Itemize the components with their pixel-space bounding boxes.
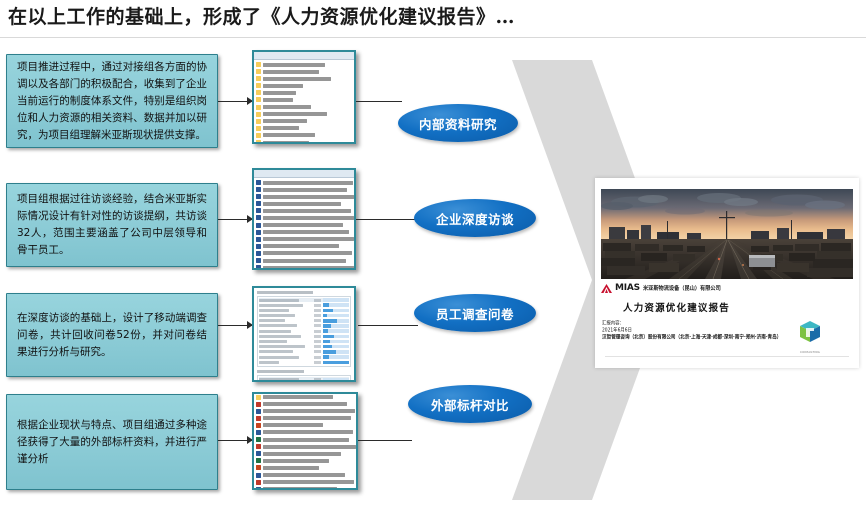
list-item (256, 76, 354, 82)
list-item (256, 132, 354, 138)
list-item (256, 429, 356, 435)
word-file-icon (256, 223, 261, 228)
word-file-icon (256, 265, 261, 270)
list-item (256, 208, 354, 214)
mias-triangle-logo-icon (601, 284, 612, 293)
list-item (256, 258, 354, 264)
document-thumbnail-4[interactable] (252, 392, 358, 490)
word-file-icon (256, 487, 261, 490)
step-label-internal-data-research[interactable]: 内部资料研究 (398, 104, 518, 142)
folder-icon (256, 83, 261, 88)
word-file-icon (256, 473, 261, 478)
oval-label-text-2: 企业深度访谈 (436, 209, 514, 228)
word-file-icon (256, 451, 261, 456)
list-item (256, 180, 354, 186)
word-file-icon (256, 230, 261, 235)
table-row (259, 355, 349, 359)
cube-logo-icon (796, 320, 824, 344)
word-file-icon (256, 237, 261, 242)
word-file-icon (256, 430, 261, 435)
connector-line-4b (358, 440, 412, 441)
step-label-external-benchmark[interactable]: 外部标杆对比 (408, 385, 532, 423)
list-item (256, 104, 354, 110)
table-totals-row (259, 360, 349, 364)
list-item (256, 243, 354, 249)
list-item (256, 215, 354, 221)
pdf-file-icon (256, 416, 261, 421)
logo-caption: CONSULTING (793, 350, 827, 354)
step-description-box-3: 在深度访谈的基础上，设计了移动端调查问卷，共计回收问卷52份，并对问卷结果进行分… (6, 293, 218, 377)
list-item (256, 265, 354, 270)
step-description-box-4: 根据企业现状与特点、项目组通过多种途径获得了大量的外部标杆资料，并进行严谨分析 (6, 394, 218, 490)
list-item (256, 118, 354, 124)
cover-brand-line: MIAS 米亚斯物流设备（昆山）有限公司 (601, 283, 853, 293)
word-file-icon (256, 187, 261, 192)
list-item (256, 394, 356, 400)
list-item (256, 472, 356, 478)
table-row (259, 345, 349, 349)
excel-file-icon (256, 437, 261, 442)
list-item (256, 401, 356, 407)
folder-icon (256, 126, 261, 131)
results-table (257, 375, 351, 382)
step-description-box-1: 项目推进过程中，通过对接组各方面的协调以及各部门的积极配合，收集到了企业当前运行… (6, 54, 218, 148)
mias-company-name: 米亚斯物流设备（昆山）有限公司 (643, 284, 721, 291)
pdf-file-icon (256, 480, 261, 485)
folder-icon (256, 90, 261, 95)
table-row (259, 334, 349, 338)
table-header-row (259, 377, 349, 381)
folder-icon (256, 133, 261, 138)
table-row (259, 303, 349, 307)
word-file-icon (256, 180, 261, 185)
folder-icon (256, 119, 261, 124)
oval-label-text-4: 外部标杆对比 (431, 395, 509, 414)
folder-icon (256, 69, 261, 74)
excel-file-icon (256, 458, 261, 463)
step-description-box-2: 项目组根据过往访谈经验，结合米亚斯实际情况设计有针对性的访谈提纲，共访谈32人，… (6, 183, 218, 267)
powerpoint-file-icon (256, 465, 261, 470)
word-file-icon (256, 194, 261, 199)
list-item (256, 140, 354, 144)
list-item (256, 69, 354, 75)
question-block-1 (254, 288, 354, 382)
list-item (256, 236, 354, 242)
step-label-employee-survey[interactable]: 员工调查问卷 (414, 294, 536, 332)
word-file-icon (256, 201, 261, 206)
table-row (259, 340, 349, 344)
document-thumbnail-1[interactable] (252, 50, 356, 144)
list-item (256, 451, 356, 457)
mias-wordmark: MIAS (615, 283, 640, 293)
list-item (256, 437, 356, 443)
table-row (259, 308, 349, 312)
list-item (256, 465, 356, 471)
table-header-row (259, 298, 349, 302)
folder-icon (256, 395, 261, 400)
list-item (256, 201, 354, 207)
list-item (256, 229, 354, 235)
document-thumbnail-3[interactable] (252, 286, 356, 382)
folder-icon (256, 76, 261, 81)
table-row (259, 324, 349, 328)
list-item (256, 90, 354, 96)
word-file-icon (256, 251, 261, 256)
list-item (256, 194, 354, 200)
table-row (259, 314, 349, 318)
pdf-file-icon (256, 402, 261, 407)
list-item (256, 187, 354, 193)
word-file-icon (256, 215, 261, 220)
word-file-icon (256, 208, 261, 213)
table-row (259, 329, 349, 333)
list-item (256, 250, 354, 256)
table-row (259, 350, 349, 354)
question-title (257, 370, 304, 373)
report-cover-preview[interactable]: MIAS 米亚斯物流设备（昆山）有限公司 人力资源优化建议报告 汇报内容： 20… (595, 178, 859, 368)
word-file-icon (256, 244, 261, 249)
oval-label-text-1: 内部资料研究 (419, 114, 497, 133)
list-item (256, 125, 354, 131)
step-description-text-2: 项目组根据过往访谈经验，结合米亚斯实际情况设计有针对性的访谈提纲，共访谈32人，… (17, 191, 207, 259)
oval-label-text-3: 员工调查问卷 (436, 304, 514, 323)
pdf-file-icon (256, 444, 261, 449)
list-item (256, 62, 354, 68)
step-description-text-3: 在深度访谈的基础上，设计了移动端调查问卷，共计回收问卷52份，并对问卷结果进行分… (17, 310, 207, 361)
folder-icon (256, 97, 261, 102)
consulting-firm-logo: CONSULTING (793, 320, 827, 350)
results-table (257, 296, 351, 367)
title-divider (0, 37, 866, 38)
connector-line-2b (356, 219, 418, 220)
page-title: 在以上工作的基础上，形成了《人力资源优化建议报告》… (8, 2, 648, 32)
list-item (256, 422, 356, 428)
word-file-icon (256, 258, 261, 263)
question-title (257, 291, 313, 294)
folder-icon (256, 105, 261, 110)
list-item (256, 444, 356, 450)
list-item (256, 458, 356, 464)
document-thumbnail-2[interactable] (252, 168, 356, 270)
railway-yard-photo (601, 189, 853, 279)
powerpoint-file-icon (256, 423, 261, 428)
list-item (256, 486, 356, 490)
connector-line-3b (358, 325, 418, 326)
list-item (256, 83, 354, 89)
list-item (256, 97, 354, 103)
folder-icon (256, 112, 261, 117)
list-item (256, 479, 356, 485)
list-item (256, 111, 354, 117)
folder-icon (256, 140, 261, 144)
list-item (256, 222, 354, 228)
step-description-text-4: 根据企业现状与特点、项目组通过多种途径获得了大量的外部标杆资料，并进行严谨分析 (17, 417, 207, 468)
presentation-slide: 在以上工作的基础上，形成了《人力资源优化建议报告》… 项目推进过程中，通过对接组… (0, 0, 866, 510)
step-description-text-1: 项目推进过程中，通过对接组各方面的协调以及各部门的积极配合，收集到了企业当前运行… (17, 59, 207, 144)
step-label-in-depth-interview[interactable]: 企业深度访谈 (414, 199, 536, 237)
table-row (259, 319, 349, 323)
explorer-header-bar (254, 170, 354, 178)
list-item (256, 408, 356, 414)
explorer-header-bar (254, 52, 354, 60)
folder-icon (256, 62, 261, 67)
list-item (256, 415, 356, 421)
cover-bottom-divider (605, 356, 849, 357)
word-file-icon (256, 409, 261, 414)
report-title: 人力资源优化建议报告 (623, 300, 730, 314)
connector-line-1b (356, 101, 402, 102)
